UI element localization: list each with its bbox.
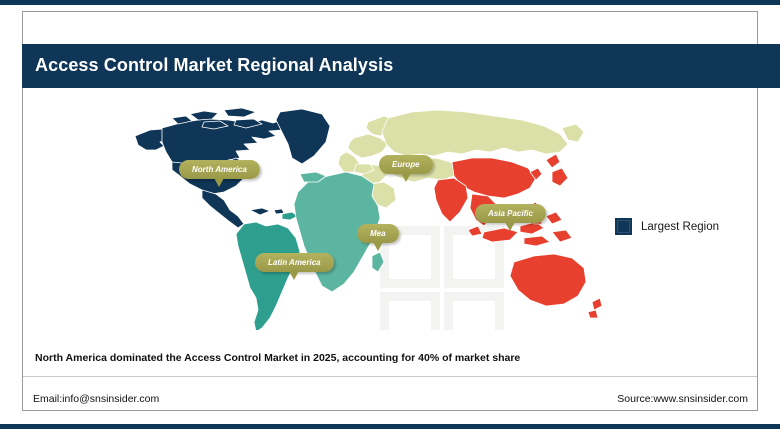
footer-email: Email:info@snsinsider.com [33,393,159,405]
map-callout-asia-pacific[interactable]: Asia Pacific [475,204,546,223]
bottom-accent-rule [0,424,780,429]
map-callout-europe[interactable]: Europe [379,155,433,174]
map-callout-north-america[interactable]: North America [179,160,260,179]
footer-source: Source:www.snsinsider.com [617,393,748,405]
top-accent-rule [0,0,780,5]
footnote-text: North America dominated the Access Contr… [35,352,520,364]
footer-divider [23,376,757,377]
region-shape-asia-pacific [434,154,602,318]
page-title: Access Control Market Regional Analysis [35,55,393,76]
map-callout-latin-america[interactable]: Latin America [255,253,334,272]
world-map-stage: tegy & Stat [22,92,758,330]
legend-label-largest-region: Largest Region [641,221,719,233]
legend-swatch-largest-region [615,218,632,235]
map-legend: Largest Region [615,218,719,235]
map-callout-mea[interactable]: Mea [357,224,399,243]
